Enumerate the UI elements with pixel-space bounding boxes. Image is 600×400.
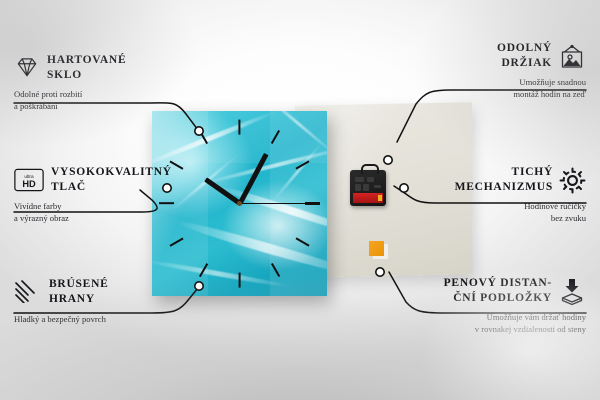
feature-title-line2: DRŽIAK <box>336 56 552 71</box>
feature-title-line2: ČNÍ PODLOŽKY <box>316 291 552 306</box>
feature-hardened-glass[interactable]: HARTOVANÉ SKLO Odolné proti rozbití a po… <box>14 53 126 112</box>
feature-foam-spacers[interactable]: PENOVÝ DISTAN- ČNÍ PODLOŽKY Umožňuje vám… <box>316 276 586 335</box>
feature-title-line1: ODOLNÝ <box>336 41 552 56</box>
ultra-hd-icon: ultra HD <box>14 168 44 192</box>
clock-tick <box>295 237 309 246</box>
infographic-canvas: HARTOVANÉ SKLO Odolné proti rozbití a po… <box>0 0 600 400</box>
feature-desc-line2: a výrazný obraz <box>14 213 172 225</box>
clock-tick <box>170 237 184 246</box>
wall-clock <box>152 111 327 296</box>
feature-desc-line1: Odolné proti rozbití <box>14 89 126 101</box>
feature-desc-line2: a poškrábání <box>14 101 126 113</box>
feature-title-line1: VYSOKOKVALITNÝ <box>51 165 172 180</box>
clock-tick <box>238 273 240 288</box>
clock-center-pin <box>237 201 242 206</box>
feature-desc-line2: bez zvuku <box>336 213 586 225</box>
feature-desc-line2: v rovnakej vzdialenosti od steny <box>316 324 586 336</box>
feature-title-line2: SKLO <box>47 68 126 83</box>
feature-desc-line1: Umožňuje vám držať hodiny <box>316 312 586 324</box>
feature-title-line1: TICHÝ <box>336 165 553 180</box>
feature-desc-line1: Hodinové ručičky <box>336 201 586 213</box>
feature-title-line2: MECHANIZMUS <box>336 180 553 195</box>
clock-tick <box>271 263 280 277</box>
feature-desc-line1: Umožňuje snadnou <box>336 77 586 89</box>
diamond-icon <box>14 54 40 80</box>
gear-icon <box>559 167 586 194</box>
feature-title-line2: TLAČ <box>51 180 172 195</box>
clock-tick <box>198 263 207 277</box>
feature-title-line1: BRÚSENÉ <box>49 277 109 292</box>
foam-distance-pad <box>369 241 384 256</box>
clock-hand <box>204 177 241 205</box>
feature-silent-mechanism[interactable]: TICHÝ MECHANIZMUS Hodinové ručičky bez z… <box>336 165 586 224</box>
ground-edges-icon <box>14 279 42 303</box>
feature-desc-line1: Hladký a bezpečný povrch <box>14 314 109 326</box>
svg-text:HD: HD <box>22 179 36 189</box>
clock-tick <box>271 130 280 144</box>
clock-tick <box>238 119 240 134</box>
feature-desc-line1: Vivídne farby <box>14 201 172 213</box>
feature-durable-hanger[interactable]: ODOLNÝ DRŽIAK Umožňuje snadnou montáž ho… <box>336 41 586 100</box>
clock-tick <box>295 160 309 169</box>
feature-title-line2: HRANY <box>49 292 109 307</box>
foam-pad-icon <box>558 277 586 305</box>
feature-ground-edges[interactable]: BRÚSENÉ HRANY Hladký a bezpečný povrch <box>14 277 109 326</box>
feature-desc-line2: montáž hodin na zeď <box>336 89 586 101</box>
picture-hanger-icon <box>558 44 586 72</box>
clock-hand <box>240 203 308 205</box>
feature-high-quality-print[interactable]: ultra HD VYSOKOKVALITNÝ TLAČ Vivídne far… <box>14 165 172 224</box>
feature-title-line1: HARTOVANÉ <box>47 53 126 68</box>
clock-hand <box>237 153 268 205</box>
clock-face <box>152 111 327 296</box>
feature-title-line1: PENOVÝ DISTAN- <box>316 276 552 291</box>
clock-tick <box>198 130 207 144</box>
